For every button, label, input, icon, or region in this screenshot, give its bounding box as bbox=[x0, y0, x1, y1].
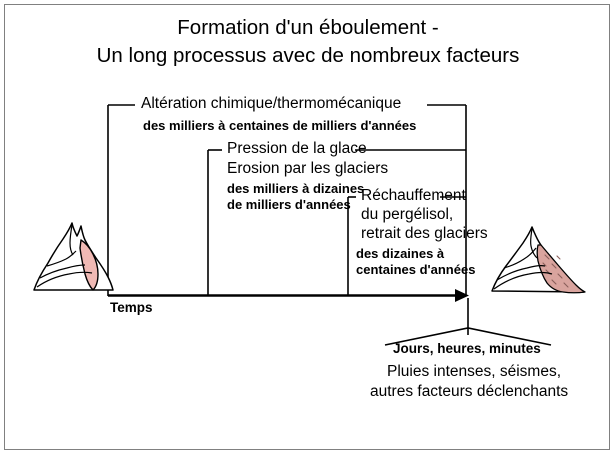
stage-pergelisol-heading-2: du pergélisol, bbox=[361, 206, 453, 224]
trigger-causes-2: autres facteurs déclenchants bbox=[370, 383, 568, 401]
stage-glace-heading-2: Erosion par les glaciers bbox=[227, 160, 388, 178]
stage-alteration-heading: Altération chimique/thermomécanique bbox=[141, 95, 401, 113]
stage-pergelisol-duration-1: des dizaines à bbox=[356, 246, 444, 261]
stage-glace-heading-1: Pression de la glace bbox=[227, 140, 367, 158]
mountain-intact-icon bbox=[34, 223, 113, 290]
stage-pergelisol-heading-1: Réchauffement bbox=[361, 187, 466, 205]
stage-glace-duration-1: des milliers à dizaines bbox=[227, 181, 364, 196]
trigger-causes-1: Pluies intenses, séismes, bbox=[387, 363, 561, 381]
stage-alteration-duration: des milliers à centaines de milliers d'a… bbox=[143, 118, 416, 133]
time-axis bbox=[108, 289, 469, 302]
trigger-duration: Jours, heures, minutes bbox=[393, 341, 541, 356]
diagram-canvas: Formation d'un éboulement - Un long proc… bbox=[0, 0, 616, 456]
stage-pergelisol-heading-3: retrait des glaciers bbox=[361, 225, 488, 243]
trigger-leader bbox=[385, 298, 551, 345]
stage-glace-duration-2: de milliers d'années bbox=[227, 197, 351, 212]
stage-pergelisol-duration-2: centaines d'années bbox=[356, 262, 475, 277]
axis-label-temps: Temps bbox=[110, 300, 153, 315]
mountain-collapsed-icon bbox=[492, 227, 585, 293]
